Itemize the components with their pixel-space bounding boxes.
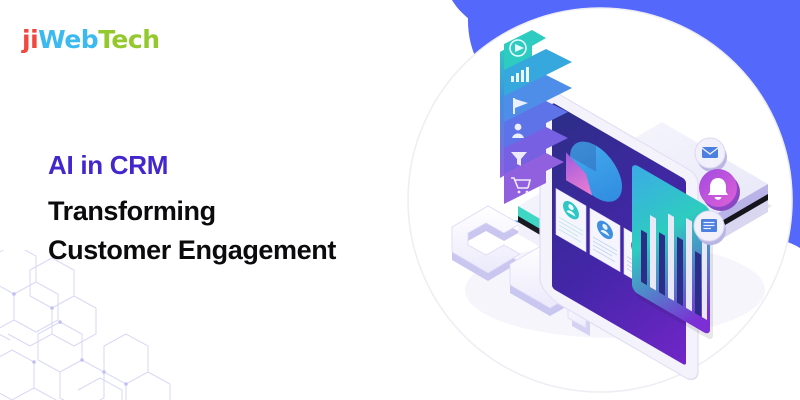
brand-logo[interactable]: jiWebTech (22, 25, 160, 54)
headline-block: AI in CRM Transforming Customer Engageme… (48, 152, 336, 269)
isometric-cube-pattern (0, 250, 212, 400)
eyebrow-text: AI in CRM (48, 152, 336, 179)
headline-line-2: Customer Engagement (48, 231, 336, 269)
logo-part-ji: ji (22, 25, 38, 54)
banner-root: jiWebTech AI in CRM Transforming Custome… (0, 0, 800, 400)
logo-part-web: Web (38, 25, 98, 54)
logo-part-tech: Tech (98, 25, 159, 54)
cards-icon (701, 219, 717, 232)
mail-icon (702, 147, 718, 158)
headline-line-1: Transforming (48, 192, 336, 230)
crm-illustration (400, 0, 800, 400)
